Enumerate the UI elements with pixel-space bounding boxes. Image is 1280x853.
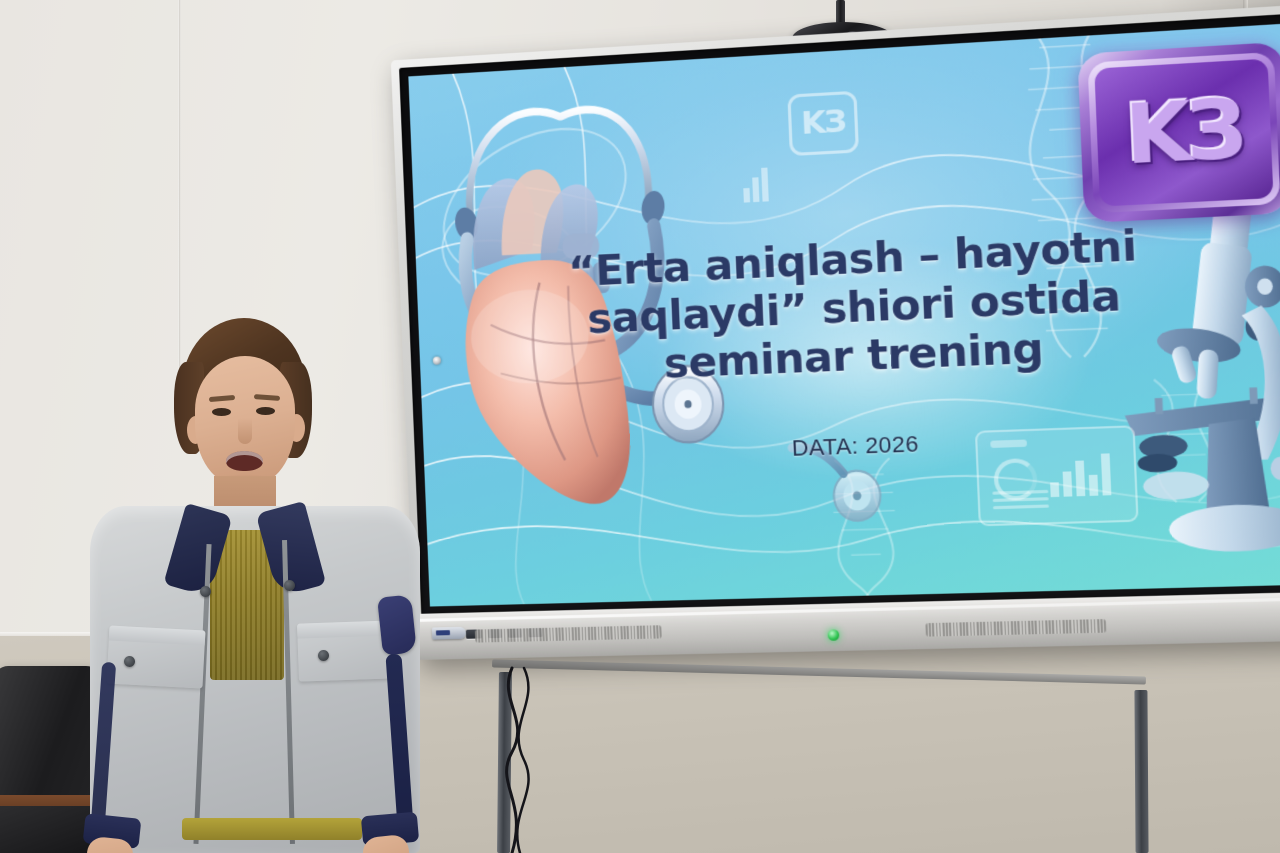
- presenter: [62, 318, 452, 853]
- jacket-button-4: [284, 580, 295, 591]
- presenter-chest-pocket-left: [107, 626, 206, 689]
- presenter-mouth: [226, 451, 263, 471]
- presenter-clip: [0, 0, 1280, 853]
- screenshot-scene: KЗ: [0, 0, 1280, 853]
- presenter-eye-right: [256, 407, 275, 415]
- presenter-shoulder-patch: [377, 594, 417, 655]
- presenter-eye-left: [212, 408, 231, 416]
- jacket-button-3: [200, 586, 211, 597]
- presenter-nose: [238, 418, 252, 444]
- jacket-button-1: [124, 656, 135, 667]
- jacket-button-2: [318, 650, 329, 661]
- presenter-waistband: [182, 818, 362, 840]
